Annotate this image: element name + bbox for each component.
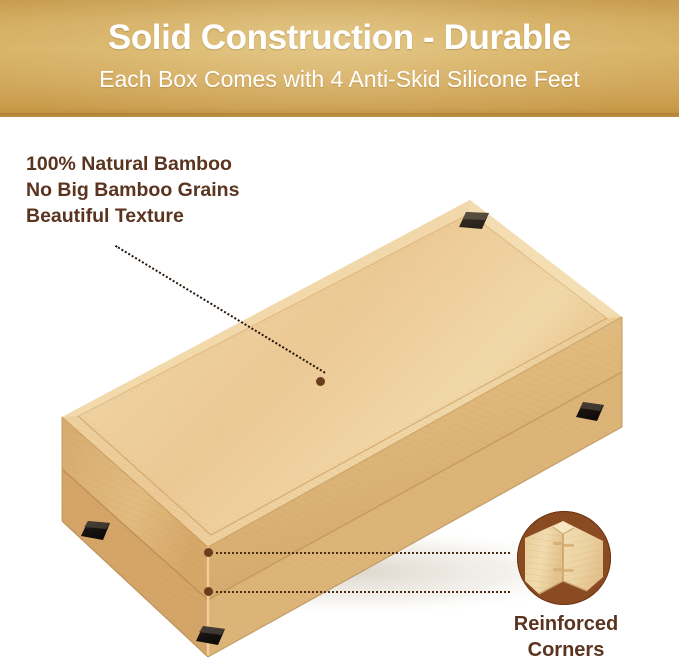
annotation-material-line-2: No Big Bamboo Grains — [26, 178, 239, 204]
leader-dot-corner-top — [204, 548, 213, 557]
header-banner: Solid Construction - Durable Each Box Co… — [0, 0, 679, 117]
annotation-material-line-3: Beautiful Texture — [26, 204, 239, 230]
annotation-corners-line-1: Reinforced — [496, 612, 636, 638]
annotation-material-line-1: 100% Natural Bamboo — [26, 152, 239, 178]
annotation-reinforced-corners: Reinforced Corners — [496, 612, 636, 663]
annotation-material: 100% Natural Bamboo No Big Bamboo Grains… — [26, 152, 239, 230]
product-stage: 100% Natural Bamboo No Big Bamboo Grains… — [0, 117, 679, 662]
annotation-corners-line-2: Corners — [496, 638, 636, 663]
leader-line-corner-bottom — [211, 591, 510, 593]
leader-dot-material — [316, 377, 325, 386]
banner-subtitle: Each Box Comes with 4 Anti-Skid Silicone… — [0, 68, 679, 91]
reinforced-corner-inset — [517, 511, 611, 605]
leader-dot-corner-bottom — [204, 587, 213, 596]
banner-title: Solid Construction - Durable — [0, 20, 679, 55]
leader-line-corner-top — [211, 552, 510, 554]
